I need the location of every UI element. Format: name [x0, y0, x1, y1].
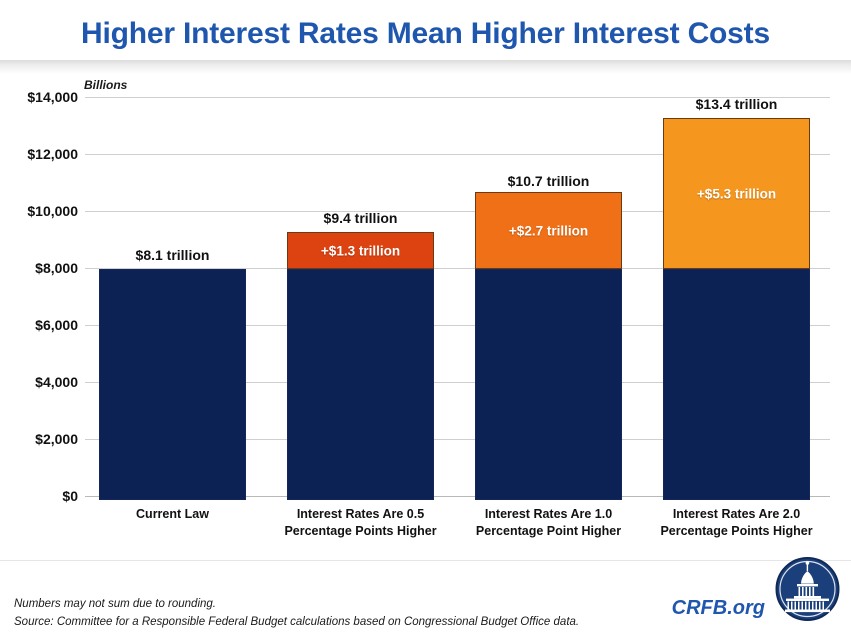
bar-total-label: $13.4 trillion [635, 96, 838, 112]
bar-segment-baseline[interactable] [99, 269, 246, 500]
footer-divider [0, 560, 851, 561]
note-rounding: Numbers may not sum due to rounding. [14, 598, 216, 610]
note-source: Source: Committee for a Responsible Fede… [14, 616, 579, 628]
chart-canvas: Higher Interest Rates Mean Higher Intere… [0, 0, 851, 638]
category-label-line: Interest Rates Are 2.0 [641, 506, 832, 523]
category-label-line: Interest Rates Are 1.0 [453, 506, 644, 523]
bar-segment-baseline[interactable] [663, 269, 810, 500]
bar-increment-label: +$2.7 trillion [476, 223, 621, 238]
bar-segment-additional[interactable]: +$5.3 trillion [663, 118, 810, 269]
bar-segment-additional[interactable]: +$1.3 trillion [287, 232, 434, 269]
bar-total-label: $8.1 trillion [71, 247, 274, 263]
brand-crfb-org[interactable]: CRFB.org [672, 597, 765, 620]
category-label-line: Current Law [77, 506, 268, 523]
bar-segment-baseline[interactable] [475, 269, 622, 500]
category-label-line: Percentage Points Higher [265, 523, 456, 540]
bar-total-label: $9.4 trillion [259, 210, 462, 226]
bar-increment-label: +$5.3 trillion [664, 186, 809, 201]
x-axis-category-label: Current Law [77, 506, 268, 523]
x-axis-category-label: Interest Rates Are 1.0Percentage Point H… [453, 506, 644, 540]
footer: Numbers may not sum due to rounding. Sou… [0, 552, 851, 638]
x-axis-category-label: Interest Rates Are 0.5Percentage Points … [265, 506, 456, 540]
bar-column[interactable]: $8.1 trillion [99, 72, 246, 500]
bar-series: $8.1 trillion+$1.3 trillion$9.4 trillion… [0, 68, 851, 500]
bar-column[interactable]: +$5.3 trillion$13.4 trillion [663, 72, 810, 500]
bar-total-label: $10.7 trillion [447, 173, 650, 189]
crfb-capitol-seal-icon [772, 556, 843, 622]
category-label-line: Percentage Points Higher [641, 523, 832, 540]
bar-column[interactable]: +$2.7 trillion$10.7 trillion [475, 72, 622, 500]
bar-segment-additional[interactable]: +$2.7 trillion [475, 192, 622, 269]
bar-segment-baseline[interactable] [287, 269, 434, 500]
bar-increment-label: +$1.3 trillion [288, 243, 433, 258]
bar-column[interactable]: +$1.3 trillion$9.4 trillion [287, 72, 434, 500]
category-label-line: Interest Rates Are 0.5 [265, 506, 456, 523]
chart-title: Higher Interest Rates Mean Higher Intere… [0, 17, 851, 51]
plot-area: Billions $14,000$12,000$10,000$8,000$6,0… [0, 68, 851, 500]
category-label-line: Percentage Point Higher [453, 523, 644, 540]
x-axis-categories: Current LawInterest Rates Are 0.5Percent… [0, 506, 851, 552]
x-axis-category-label: Interest Rates Are 2.0Percentage Points … [641, 506, 832, 540]
title-band: Higher Interest Rates Mean Higher Intere… [0, 0, 851, 68]
